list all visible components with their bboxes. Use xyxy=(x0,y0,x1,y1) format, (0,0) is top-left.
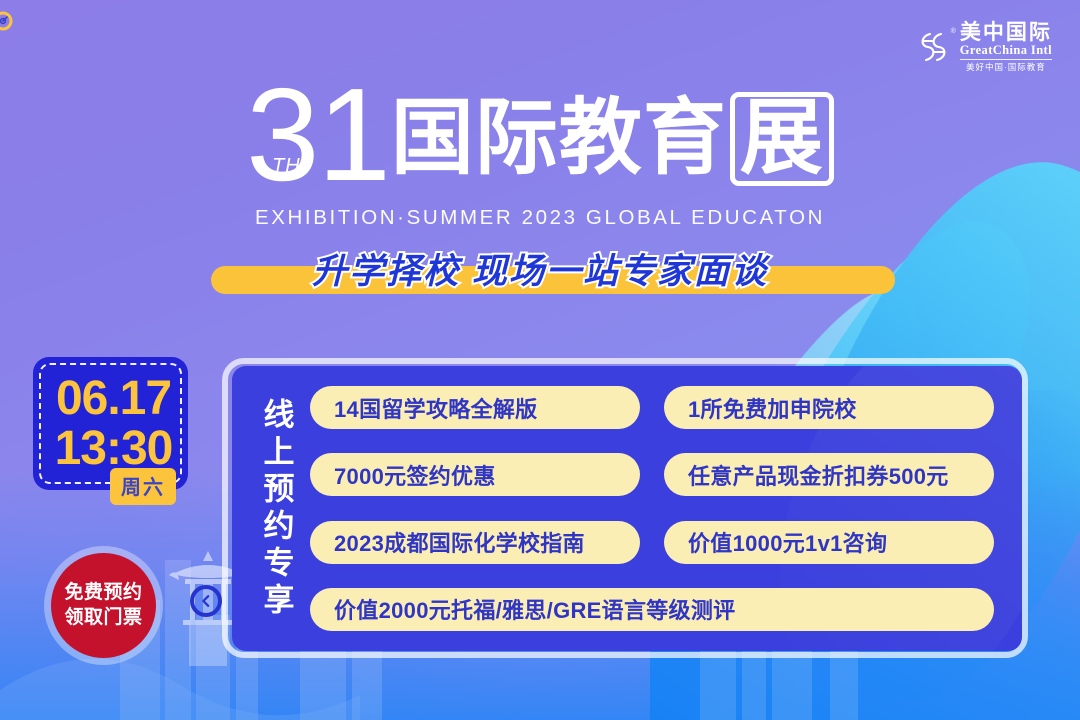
brand-name-en: GreatChina Intl xyxy=(960,44,1052,58)
slogan-text: 升学择校 现场一站专家面谈 xyxy=(0,243,1080,294)
benefit-row: 2023成都国际化学校指南 价值1000元1v1咨询 xyxy=(310,521,1004,564)
chevron-left-icon xyxy=(199,594,213,608)
edition-number-block: 31 TH xyxy=(246,78,389,192)
benefit-row: 14国留学攻略全解版 1所免费加申院校 xyxy=(310,386,1004,429)
benefit-row: 价值2000元托福/雅思/GRE语言等级测评 xyxy=(310,588,1004,631)
benefit-pill[interactable]: 7000元签约优惠 xyxy=(310,453,640,496)
stamp-line-1: 免费预约 xyxy=(64,582,142,604)
title-boxed-char: 展 xyxy=(730,92,834,186)
weekday-badge: 周六 xyxy=(110,468,176,505)
event-date: 06.17 xyxy=(56,374,171,424)
benefit-pill[interactable]: 价值2000元托福/雅思/GRE语言等级测评 xyxy=(310,588,994,631)
promo-poster: ® 美中国际 GreatChina Intl 美好中国·国际教育 31 TH 国… xyxy=(0,0,1080,720)
brand-name-cn: 美中国际 xyxy=(960,22,1052,43)
panel-vertical-label: 线上预约专享 xyxy=(232,366,306,651)
headline-subtitle-en: EXHIBITION·SUMMER 2023 GLOBAL EDUCATON xyxy=(255,206,825,230)
title-main-text: 国际教育 xyxy=(391,91,727,184)
brand-logo: ® 美中国际 GreatChina Intl 美好中国·国际教育 xyxy=(917,22,1052,72)
benefit-pill[interactable]: 2023成都国际化学校指南 xyxy=(310,521,640,564)
benefits-list: 14国留学攻略全解版 1所免费加申院校 7000元签约优惠 任意产品现金折扣券5… xyxy=(306,366,1022,651)
benefit-pill[interactable]: 任意产品现金折扣券500元 xyxy=(664,453,994,496)
benefit-pill[interactable]: 1所免费加申院校 xyxy=(664,386,994,429)
clock-icon xyxy=(0,10,14,32)
benefit-row: 7000元签约优惠 任意产品现金折扣券500元 xyxy=(310,453,1004,496)
brand-tagline: 美好中国·国际教育 xyxy=(960,59,1052,72)
free-ticket-stamp[interactable]: 免费预约 领取门票 xyxy=(51,553,156,658)
edition-ordinal: TH xyxy=(272,157,301,175)
stamp-line-2: 领取门票 xyxy=(64,607,142,629)
edition-number: 31 xyxy=(246,78,389,192)
headline-block: 31 TH 国际教育展 EXHIBITION·SUMMER 2023 GLOBA… xyxy=(0,78,1080,230)
registered-mark: ® xyxy=(951,28,956,35)
chevron-left-button[interactable] xyxy=(190,585,222,617)
greatchina-swirl-logo-icon: ® xyxy=(917,29,951,65)
benefits-panel: 线上预约专享 14国留学攻略全解版 1所免费加申院校 7000元签约优惠 任意产… xyxy=(232,366,1022,651)
event-time: 13:30 xyxy=(55,424,173,474)
title-chinese: 国际教育展 xyxy=(391,92,834,186)
benefit-pill[interactable]: 价值1000元1v1咨询 xyxy=(664,521,994,564)
benefit-pill[interactable]: 14国留学攻略全解版 xyxy=(310,386,640,429)
panel-vertical-label-text: 线上预约专享 xyxy=(261,398,292,620)
